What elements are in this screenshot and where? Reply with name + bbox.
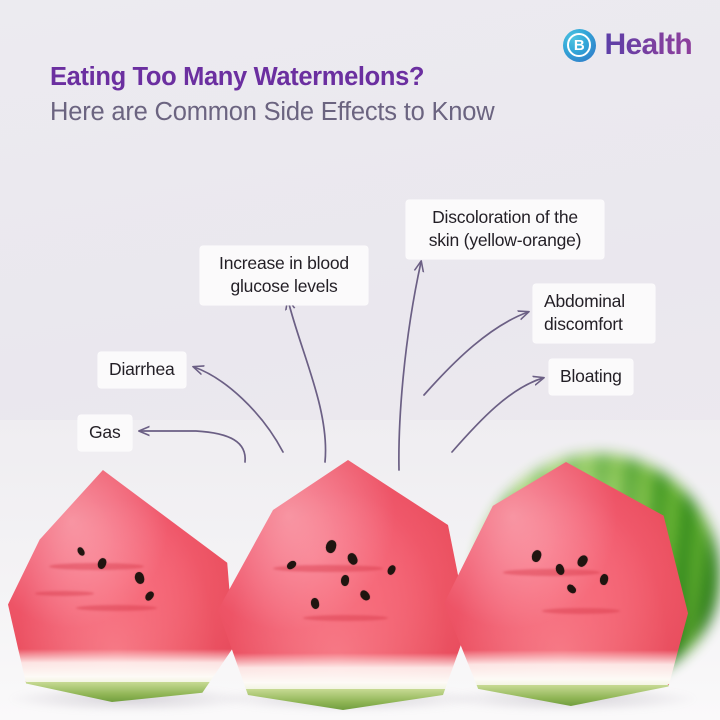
arrow-to-discoloration (399, 262, 421, 470)
arrow-to-abdominal (424, 312, 528, 395)
callout-discoloration-of-skin[interactable]: Discoloration of the skin (yellow-orange… (406, 200, 604, 259)
headline-line-2: Here are Common Side Effects to Know (50, 96, 494, 129)
headline-line-1: Eating Too Many Watermelons? (50, 62, 494, 93)
page-title: Eating Too Many Watermelons? Here are Co… (50, 62, 494, 129)
callout-diarrhea[interactable]: Diarrhea (98, 352, 186, 388)
arrow-to-bloating (452, 378, 543, 452)
callout-abdominal-discomfort[interactable]: Abdominal discomfort (533, 284, 655, 343)
arrow-to-gas (140, 431, 245, 462)
callout-gas[interactable]: Gas (78, 415, 132, 451)
infographic-canvas: Discoloration of the skin (yellow-orange… (0, 0, 720, 720)
arrow-to-diarrhea (194, 367, 283, 452)
brand-logo[interactable]: B Health (563, 28, 693, 62)
arrow-to-glucose (288, 300, 326, 462)
callout-bloating[interactable]: Bloating (549, 359, 633, 395)
bajaj-b-circle-icon: B (563, 29, 596, 62)
brand-name: Health (605, 28, 693, 62)
brand-mark-letter: B (563, 29, 596, 62)
callout-increase-in-blood-glucose[interactable]: Increase in blood glucose levels (200, 246, 368, 305)
